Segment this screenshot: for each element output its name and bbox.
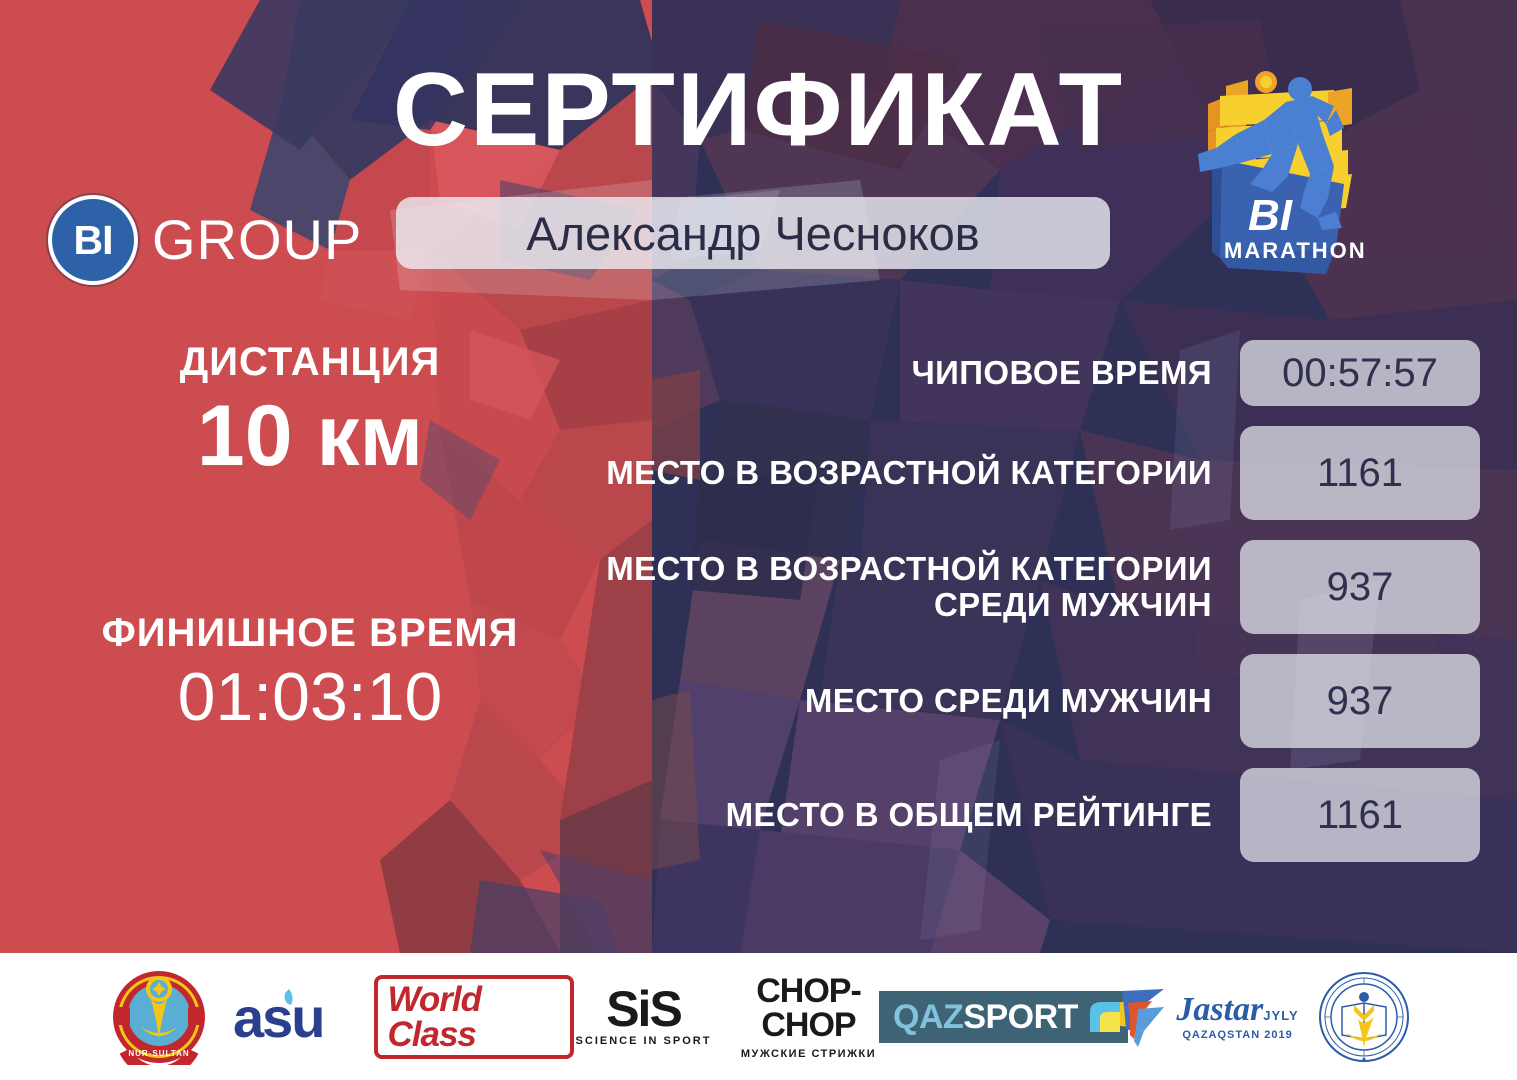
stat-label: МЕСТО В ВОЗРАСТНОЙ КАТЕГОРИИ СРЕДИ МУЖЧИ…	[600, 551, 1240, 624]
certificate-page: СЕРТИФИКАТ BI GROUP Александр Чесноков	[0, 0, 1517, 1080]
stat-value-box: 1161	[1240, 768, 1480, 862]
participant-name-field: Александр Чесноков	[396, 197, 1110, 269]
sponsor-science-in-sport: SiS SCIENCE IN SPORT	[574, 967, 714, 1067]
bi-group-word: GROUP	[152, 212, 362, 268]
sponsor-qazsport: QAZ SPORT	[904, 967, 1104, 1067]
distance-value: 10 км	[60, 391, 560, 481]
distance-label: ДИСТАНЦИЯ	[60, 340, 560, 385]
sis-tagline: SCIENCE IN SPORT	[576, 1035, 712, 1047]
left-stats-column: ДИСТАНЦИЯ 10 км ФИНИШНОЕ ВРЕМЯ 01:03:10	[60, 340, 560, 735]
stat-value: 1161	[1317, 795, 1403, 835]
qazsport-sport-text: SPORT	[963, 1000, 1078, 1034]
distance-block: ДИСТАНЦИЯ 10 км	[60, 340, 560, 481]
sponsor-asu: asu	[224, 967, 374, 1067]
bi-mark-text: BI	[74, 220, 113, 261]
stat-value: 937	[1327, 567, 1394, 607]
stat-value-box: 00:57:57	[1240, 340, 1480, 406]
stat-value: 1161	[1317, 453, 1403, 493]
qazsport-mark-icon	[1088, 1000, 1122, 1034]
sponsor-chop-chop: CHOP-CHOP МУЖСКИЕ СТРИЖКИ	[714, 967, 904, 1067]
world-class-frame: World Class	[374, 975, 574, 1059]
finish-time-label: ФИНИШНОЕ ВРЕМЯ	[60, 611, 560, 656]
sponsor-world-class: World Class	[374, 967, 574, 1067]
stat-row-age-category-men-place: МЕСТО В ВОЗРАСТНОЙ КАТЕГОРИИ СРЕДИ МУЖЧИ…	[600, 540, 1480, 634]
qazsport-bar: QAZ SPORT	[879, 991, 1128, 1043]
finish-time-value: 01:03:10	[60, 660, 560, 735]
jastar-jyly-text: JYLY	[1263, 1008, 1298, 1023]
finish-time-block: ФИНИШНОЕ ВРЕМЯ 01:03:10	[60, 611, 560, 735]
sis-wordmark: SiS	[576, 986, 712, 1034]
stat-value-box: 1161	[1240, 426, 1480, 520]
bi-marathon-logo: BI MARATHON	[1176, 62, 1376, 297]
stat-label: МЕСТО В ОБЩЕМ РЕЙТИНГЕ	[600, 797, 1240, 833]
stat-value: 00:57:57	[1282, 353, 1438, 393]
stat-row-chip-time: ЧИПОВОЕ ВРЕМЯ 00:57:57	[600, 340, 1480, 406]
qazsport-qaz-text: QAZ	[893, 1000, 963, 1034]
stat-row-men-place: МЕСТО СРЕДИ МУЖЧИН 937	[600, 654, 1480, 748]
right-stats-list: ЧИПОВОЕ ВРЕМЯ 00:57:57 МЕСТО В ВОЗРАСТНО…	[600, 340, 1480, 882]
stat-label: МЕСТО СРЕДИ МУЖЧИН	[600, 683, 1240, 719]
marathon-logo-bi-text: BI	[1248, 191, 1293, 240]
bi-group-logo: BI GROUP	[48, 195, 362, 285]
sponsor-bar: NUR-SULTAN asu World Class SiS SCIENCE I…	[0, 953, 1517, 1080]
jastar-subtitle: QAZAQSTAN 2019	[1176, 1029, 1298, 1041]
nur-sultan-label: NUR-SULTAN	[128, 1049, 189, 1058]
chop-chop-tagline: МУЖСКИЕ СТРИЖКИ	[714, 1048, 904, 1060]
participant-name-text: Александр Чесноков	[526, 210, 979, 257]
stat-value-box: 937	[1240, 654, 1480, 748]
marathon-logo-marathon-text: MARATHON	[1224, 238, 1367, 263]
world-class-text: World Class	[388, 982, 560, 1052]
bi-circle-icon: BI	[48, 195, 138, 285]
sponsor-nur-sultan-emblem: NUR-SULTAN	[94, 967, 224, 1067]
stat-row-overall-place: МЕСТО В ОБЩЕМ РЕЙТИНГЕ 1161	[600, 768, 1480, 862]
sponsor-jastar-jyly: JastarJYLY QAZAQSTAN 2019	[1104, 967, 1304, 1067]
stat-label: МЕСТО В ВОЗРАСТНОЙ КАТЕГОРИИ	[600, 455, 1240, 491]
stat-row-age-category-place: МЕСТО В ВОЗРАСТНОЙ КАТЕГОРИИ 1161	[600, 426, 1480, 520]
sponsor-ministry-seal	[1304, 967, 1424, 1067]
stat-label: ЧИПОВОЕ ВРЕМЯ	[600, 355, 1240, 391]
jastar-wordmark: Jastar	[1176, 991, 1263, 1028]
stat-value: 937	[1327, 681, 1394, 721]
asu-wordmark: asu	[233, 986, 324, 1049]
stat-value-box: 937	[1240, 540, 1480, 634]
chop-chop-wordmark: CHOP-CHOP	[714, 974, 904, 1042]
